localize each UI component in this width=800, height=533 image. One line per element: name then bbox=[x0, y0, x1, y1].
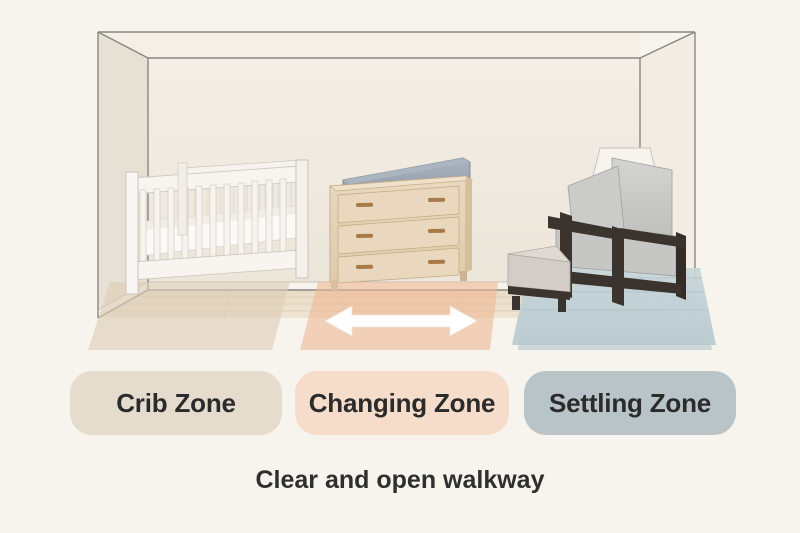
zone-pill-settling-label: Settling Zone bbox=[549, 388, 711, 419]
zone-pill-changing[interactable]: Changing Zone bbox=[295, 371, 509, 435]
zone-pill-crib-label: Crib Zone bbox=[116, 388, 236, 419]
zone-pill-crib[interactable]: Crib Zone bbox=[70, 371, 282, 435]
nursery-illustration: Crib Zone Changing Zone Settling Zone Cl… bbox=[0, 0, 800, 533]
crib-zone-floor-patch bbox=[88, 282, 290, 350]
walkway-caption: Clear and open walkway bbox=[0, 466, 800, 495]
room-scene-svg bbox=[0, 0, 800, 533]
zone-pill-changing-label: Changing Zone bbox=[309, 388, 496, 419]
zone-patch-rounding bbox=[0, 350, 800, 370]
zone-pill-settling[interactable]: Settling Zone bbox=[524, 371, 736, 435]
